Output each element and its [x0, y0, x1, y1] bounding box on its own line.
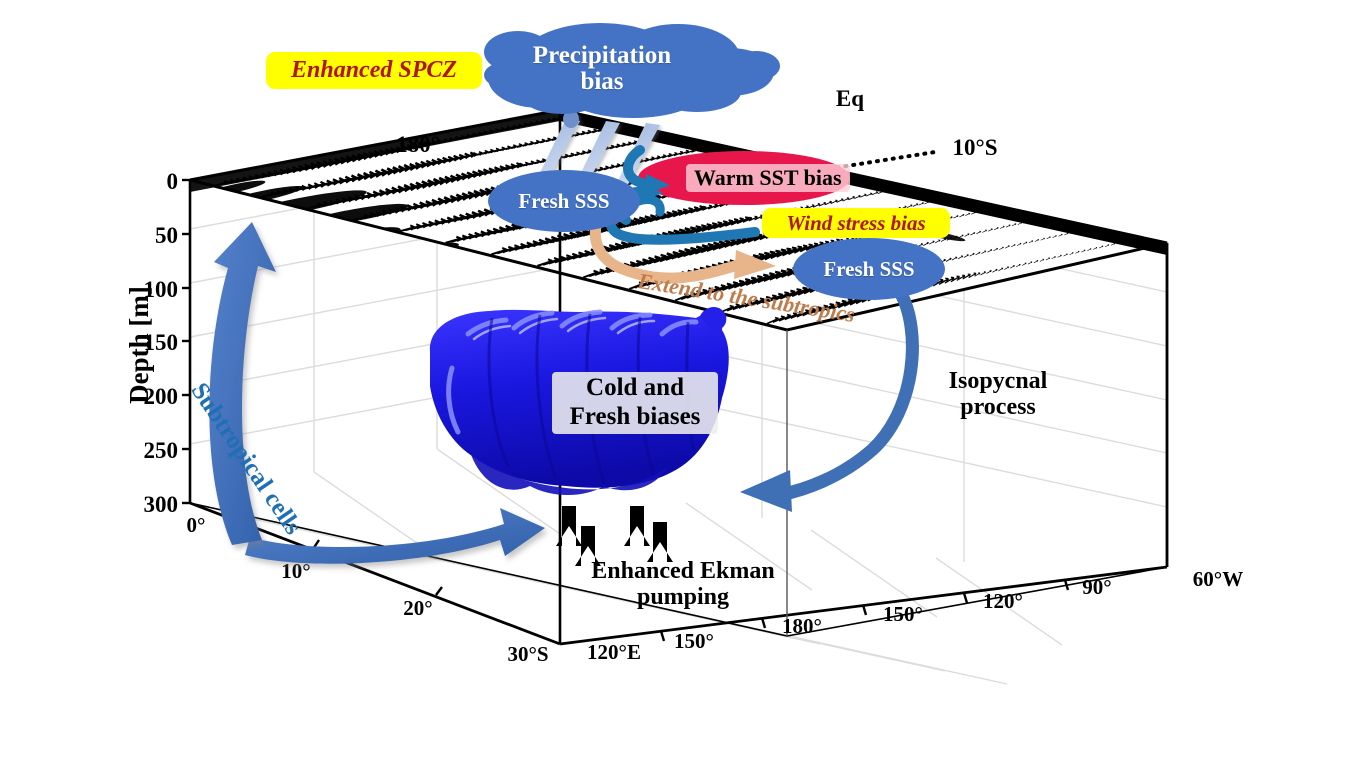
depth-tick-0: 0 [167, 169, 179, 194]
ekman-line-2: pumping [568, 584, 798, 610]
lon-tick-150e: 150° [674, 629, 714, 653]
fresh-sss-west-label: Fresh SSS [518, 189, 609, 214]
surface-lon-tick-180: 180° [396, 132, 440, 157]
depth-tick-300: 300 [144, 492, 179, 517]
depth-tick-50: 50 [155, 223, 178, 248]
wind-stress-bias-label: Wind stress bias [786, 211, 925, 236]
surface-lat-label-10s: 10°S [953, 135, 998, 160]
cold-fresh-biases-line-1: Cold and [560, 374, 710, 403]
fresh-sss-east-callout: Fresh SSS [793, 238, 945, 300]
isopycnal-process-text: Isopycnal process [908, 368, 1088, 421]
lat-tick-20: 20° [403, 596, 432, 620]
wind-stress-bias-badge: Wind stress bias [762, 208, 950, 238]
lat-tick-0: 0° [187, 513, 206, 537]
lon-tick-120e: 120°E [587, 640, 641, 664]
cold-fresh-biases-line-2: Fresh biases [560, 403, 710, 432]
fresh-sss-west-callout: Fresh SSS [488, 170, 640, 232]
lon-tick-120w: 120° [983, 589, 1023, 613]
ekman-pumping-arrows [556, 506, 673, 566]
warm-sst-bias-label: Warm SST bias [686, 164, 850, 192]
precipitation-bias-text: Precipitation bias [512, 43, 692, 96]
lon-tick-90w: 90° [1082, 575, 1111, 599]
lat-tick-30s: 30°S [507, 642, 548, 666]
enhanced-spcz-label: Enhanced SPCZ [291, 57, 457, 84]
figure-canvas: 0 50 100 150 200 250 300 0° 10° 20° 30°S… [0, 0, 1362, 767]
precipitation-bias-line-1: Precipitation [512, 43, 692, 69]
precipitation-bias-line-2: bias [512, 69, 692, 95]
ekman-line-1: Enhanced Ekman [568, 558, 798, 584]
depth-axis-title: Depth [m] [124, 286, 154, 404]
isopycnal-line-1: Isopycnal [908, 368, 1088, 394]
depth-tick-250: 250 [144, 438, 179, 463]
lon-tick-60w: 60°W [1193, 567, 1243, 591]
ekman-pumping-text: Enhanced Ekman pumping [568, 558, 798, 611]
enhanced-spcz-badge: Enhanced SPCZ [266, 52, 482, 89]
isopycnal-line-2: process [908, 394, 1088, 420]
surface-lat-label-eq: Eq [836, 86, 864, 111]
fresh-sss-east-label: Fresh SSS [823, 257, 914, 282]
cold-fresh-biases-box: Cold and Fresh biases [552, 372, 718, 434]
lon-tick-150w: 150° [883, 602, 923, 626]
lon-tick-180: 180° [782, 614, 822, 638]
